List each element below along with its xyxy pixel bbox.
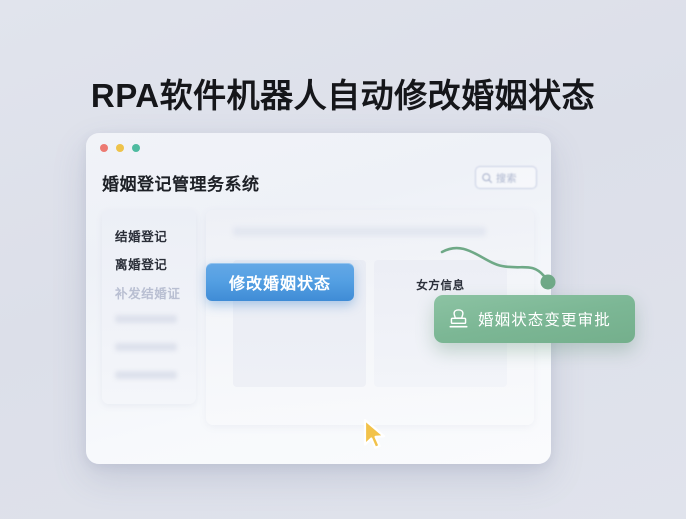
sidebar-placeholder-row bbox=[115, 315, 177, 323]
sidebar-item-divorce-registration[interactable]: 离婚登记 bbox=[115, 254, 167, 273]
window-titlebar bbox=[86, 133, 551, 161]
app-header: 婚姻登记管理务系统 搜索 bbox=[86, 161, 551, 206]
minimize-button[interactable] bbox=[116, 144, 124, 152]
panel-header-placeholder bbox=[233, 227, 486, 236]
form-section-bride-label: 女方信息 bbox=[374, 277, 507, 293]
close-button[interactable] bbox=[100, 144, 108, 152]
sidebar-item-marriage-registration[interactable]: 结婚登记 bbox=[115, 226, 167, 245]
stamp-icon bbox=[448, 308, 469, 330]
traffic-lights bbox=[100, 144, 140, 152]
page-title: RPA软件机器人自动修改婚姻状态 bbox=[0, 75, 686, 117]
system-title: 婚姻登记管理务系统 bbox=[102, 170, 260, 195]
search-input[interactable]: 搜索 bbox=[475, 166, 537, 189]
maximize-button[interactable] bbox=[132, 144, 140, 152]
screenshot-stage: RPA软件机器人自动修改婚姻状态 婚姻登记管理务系统 搜索 结婚 bbox=[0, 0, 686, 519]
search-icon bbox=[481, 172, 493, 184]
sidebar-placeholder-row bbox=[115, 371, 177, 379]
approval-badge[interactable]: 婚姻状态变更审批 bbox=[434, 295, 635, 343]
sidebar: 结婚登记 离婚登记 补发结婚证 bbox=[102, 210, 196, 404]
modify-marital-status-button[interactable]: 修改婚姻状态 bbox=[206, 263, 354, 301]
approval-badge-label: 婚姻状态变更审批 bbox=[478, 308, 611, 330]
search-placeholder: 搜索 bbox=[496, 170, 517, 185]
sidebar-item-reissue-certificate[interactable]: 补发结婚证 bbox=[115, 283, 181, 302]
sidebar-placeholder-row bbox=[115, 343, 177, 351]
